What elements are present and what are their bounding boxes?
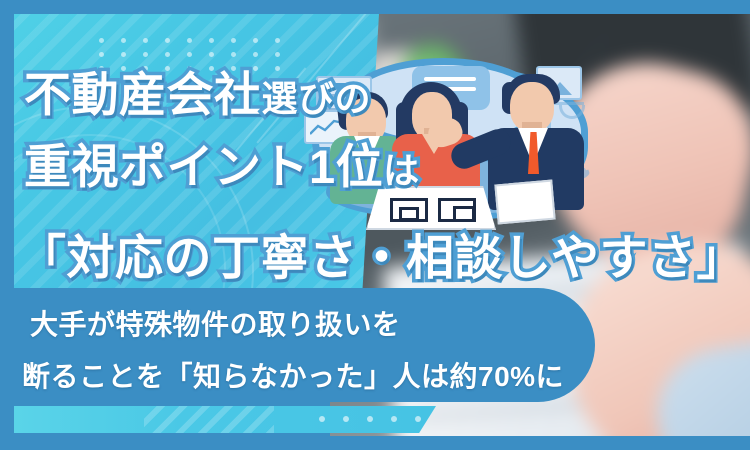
subtext-line-2: 断ることを「知らなかった」人は約70%に xyxy=(22,355,564,395)
headline-line-1: 不動産会社選びの xyxy=(24,56,371,125)
headline-line-1-emph: 不動産会社 xyxy=(24,68,262,121)
headline-group: 不動産会社選びの 重視ポイント1位は 「対応の丁寧さ・相談しやすさ」 大手が特殊… xyxy=(0,0,750,450)
banner-root: 不動産会社選びの 重視ポイント1位は 「対応の丁寧さ・相談しやすさ」 大手が特殊… xyxy=(0,0,750,450)
subtext-line-1: 大手が特殊物件の取り扱いを xyxy=(30,303,401,343)
headline-line-3-text: 「対応の丁寧さ・相談しやすさ」 xyxy=(18,232,745,285)
headline-line-3: 「対応の丁寧さ・相談しやすさ」 xyxy=(18,218,745,288)
headline-line-2-emph: 重視ポイント1位 xyxy=(24,140,383,193)
headline-line-1-rest: 選びの xyxy=(262,78,372,119)
headline-line-2: 重視ポイント1位は xyxy=(24,128,420,197)
headline-line-2-rest: は xyxy=(383,150,420,191)
